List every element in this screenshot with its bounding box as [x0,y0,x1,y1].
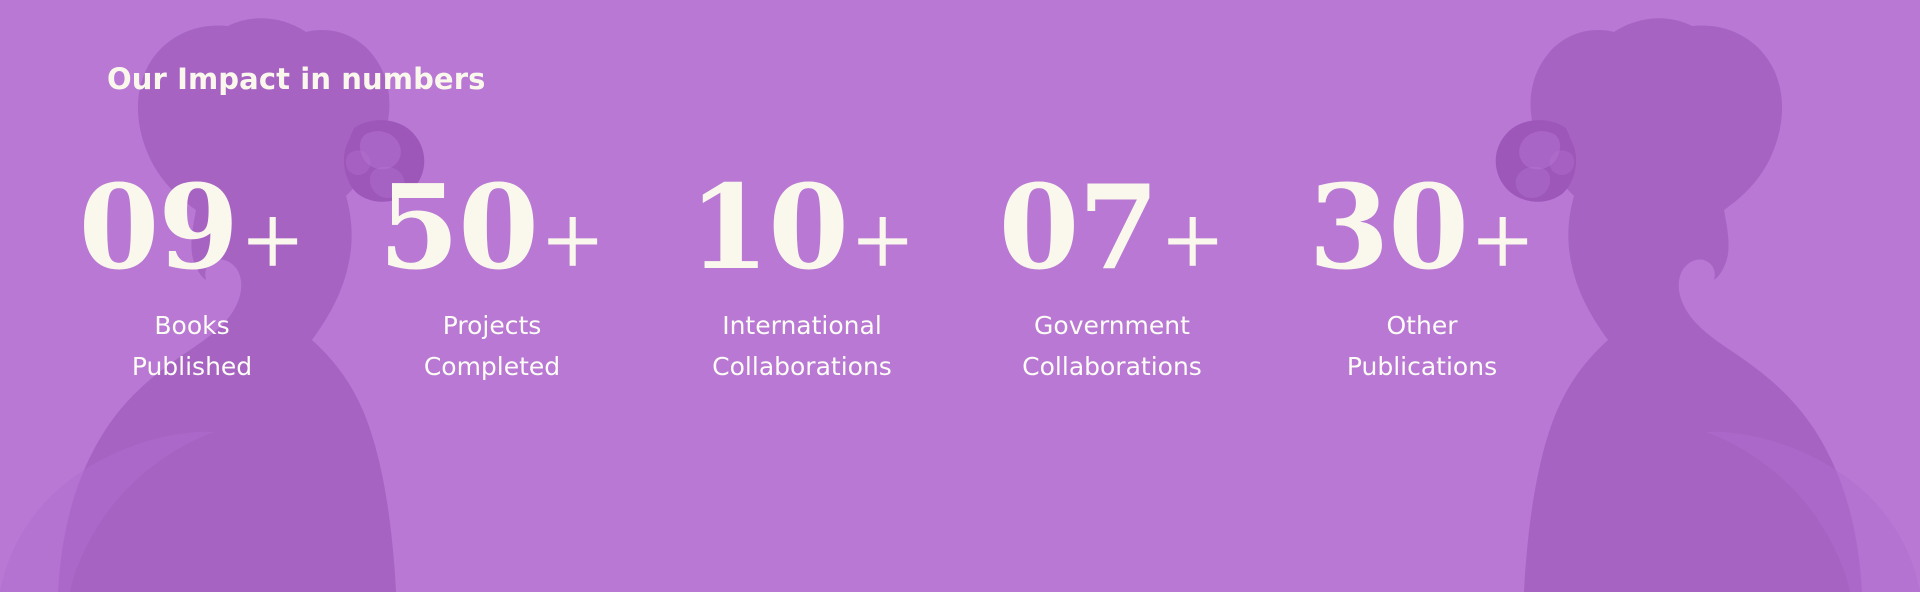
stat-label: Government Collaborations [962,306,1262,387]
page-title: Our Impact in numbers [107,62,485,96]
stat-plus-suffix: + [850,201,915,279]
stat-label: Other Publications [1272,306,1572,387]
stat-number: 10 [689,170,848,286]
stat-label: International Collaborations [652,306,952,387]
stat-plus-suffix: + [540,201,605,279]
stat-label: Books Published [42,306,342,387]
stat-item-projects-completed: 50 + Projects Completed [342,170,642,387]
impact-stats-banner: Our Impact in numbers 09 + Books Publish… [0,0,1920,592]
stat-label: Projects Completed [342,306,642,387]
stat-plus-suffix: + [240,201,305,279]
stat-number: 09 [79,170,238,286]
stat-item-books-published: 09 + Books Published [42,170,342,387]
stat-value: 07 + [962,170,1262,288]
stat-plus-suffix: + [1470,201,1535,279]
stat-item-other-publications: 30 + Other Publications [1272,170,1572,387]
stat-value: 30 + [1272,170,1572,288]
stat-number: 07 [999,170,1158,286]
stat-number: 50 [379,170,538,286]
stat-number: 30 [1309,170,1468,286]
stat-plus-suffix: + [1160,201,1225,279]
stat-value: 50 + [342,170,642,288]
stat-value: 09 + [42,170,342,288]
stats-row: 09 + Books Published 50 + Projects Compl… [0,170,1920,387]
stat-item-government-collaborations: 07 + Government Collaborations [962,170,1262,387]
stat-value: 10 + [652,170,952,288]
stat-item-international-collaborations: 10 + International Collaborations [652,170,952,387]
